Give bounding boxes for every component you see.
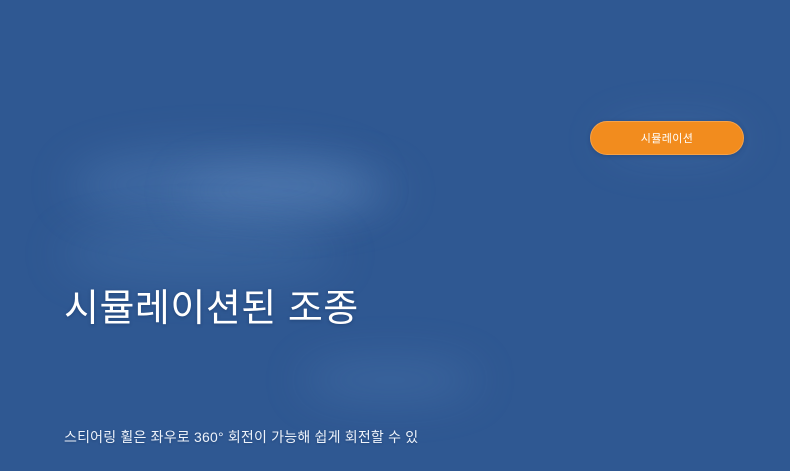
body-line-1: 스티어링 휠은 좌우로 360° 회전이 가능해 쉽게 회전할 수 있 — [64, 417, 418, 458]
hero-banner: 시뮬레이션된 조종 석 사운드 스피커 스티어링 휠은 좌우로 360° 회전이… — [0, 0, 790, 471]
simulation-button-label: 시뮬레이션 — [641, 130, 694, 146]
simulation-button[interactable]: 시뮬레이션 — [590, 121, 744, 155]
body-description: 스티어링 휠은 좌우로 360° 회전이 가능해 쉽게 회전할 수 있 으며, … — [64, 335, 418, 471]
